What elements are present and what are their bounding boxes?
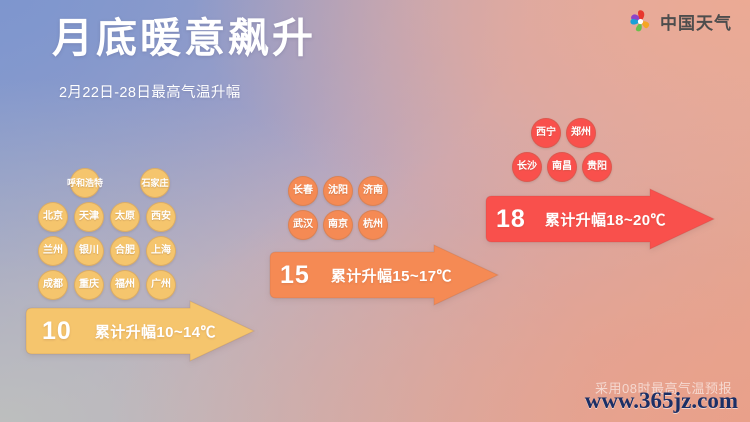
weather-infographic-poster: 月底暖意飙升 2月22日-28日最高气温升幅 中国天气 呼和浩特 石家庄 北京 … bbox=[0, 0, 750, 422]
brand-name: 中国天气 bbox=[660, 9, 732, 34]
arrow-level-value: 15 bbox=[280, 261, 310, 290]
city-bubble[interactable]: 兰州 bbox=[38, 236, 68, 266]
city-group-15: 长春 沈阳 济南 武汉 南京 杭州 bbox=[288, 176, 388, 244]
city-bubble[interactable]: 沈阳 bbox=[323, 176, 353, 206]
page-title: 月底暖意飙升 bbox=[52, 14, 316, 62]
city-row: 长春 沈阳 济南 bbox=[288, 176, 388, 206]
city-bubble[interactable]: 长春 bbox=[288, 176, 318, 206]
city-bubble[interactable]: 福州 bbox=[110, 270, 140, 300]
city-bubble[interactable]: 南昌 bbox=[547, 152, 577, 182]
site-watermark: www.365jz.com bbox=[585, 388, 738, 414]
arrow-range-label: 累计升幅15~17℃ bbox=[331, 265, 452, 286]
city-bubble[interactable]: 南京 bbox=[323, 210, 353, 240]
city-bubble[interactable]: 贵阳 bbox=[582, 152, 612, 182]
arrow-level-value: 18 bbox=[496, 205, 526, 234]
city-bubble[interactable]: 长沙 bbox=[512, 152, 542, 182]
arrow-banner-10: 10 累计升幅10~14℃ bbox=[22, 300, 258, 362]
city-label: 呼和浩特 bbox=[67, 179, 103, 188]
brand-logo: 中国天气 bbox=[628, 9, 732, 34]
city-bubble[interactable]: 济南 bbox=[358, 176, 388, 206]
city-row: 武汉 南京 杭州 bbox=[288, 210, 388, 240]
city-bubble[interactable]: 郑州 bbox=[566, 118, 596, 148]
arrow-banner-15: 15 累计升幅15~17℃ bbox=[266, 244, 502, 306]
city-bubble[interactable]: 太原 bbox=[110, 202, 140, 232]
city-row: 西宁 郑州 bbox=[531, 118, 612, 148]
arrow-range-label: 累计升幅10~14℃ bbox=[95, 321, 216, 342]
city-bubble[interactable]: 武汉 bbox=[288, 210, 318, 240]
city-bubble[interactable]: 广州 bbox=[146, 270, 176, 300]
city-bubble[interactable]: 石家庄 bbox=[140, 168, 170, 198]
city-bubble[interactable]: 成都 bbox=[38, 270, 68, 300]
city-label: 石家庄 bbox=[141, 179, 168, 188]
city-bubble[interactable]: 杭州 bbox=[358, 210, 388, 240]
arrow-banner-18: 18 累计升幅18~20℃ bbox=[482, 188, 718, 250]
city-row: 兰州 银川 合肥 上海 bbox=[38, 236, 176, 266]
city-bubble[interactable]: 西安 bbox=[146, 202, 176, 232]
city-bubble[interactable]: 上海 bbox=[146, 236, 176, 266]
city-bubble[interactable]: 银川 bbox=[74, 236, 104, 266]
city-bubble[interactable]: 合肥 bbox=[110, 236, 140, 266]
city-row: 呼和浩特 石家庄 bbox=[70, 168, 176, 198]
arrow-level-value: 10 bbox=[42, 317, 72, 346]
page-subtitle: 2月22日-28日最高气温升幅 bbox=[59, 84, 241, 103]
city-row: 长沙 南昌 贵阳 bbox=[512, 152, 612, 182]
city-bubble[interactable]: 北京 bbox=[38, 202, 68, 232]
city-group-10: 呼和浩特 石家庄 北京 天津 太原 西安 兰州 银川 合肥 上海 成都 重庆 福… bbox=[38, 168, 176, 304]
city-row: 北京 天津 太原 西安 bbox=[38, 202, 176, 232]
city-row: 成都 重庆 福州 广州 bbox=[38, 270, 176, 300]
arrow-range-label: 累计升幅18~20℃ bbox=[545, 209, 666, 230]
city-bubble[interactable]: 天津 bbox=[74, 202, 104, 232]
city-bubble[interactable]: 呼和浩特 bbox=[70, 168, 100, 198]
city-bubble[interactable]: 重庆 bbox=[74, 270, 104, 300]
city-bubble[interactable]: 西宁 bbox=[531, 118, 561, 148]
pinwheel-icon bbox=[628, 9, 653, 34]
city-group-18: 西宁 郑州 长沙 南昌 贵阳 bbox=[512, 118, 612, 186]
